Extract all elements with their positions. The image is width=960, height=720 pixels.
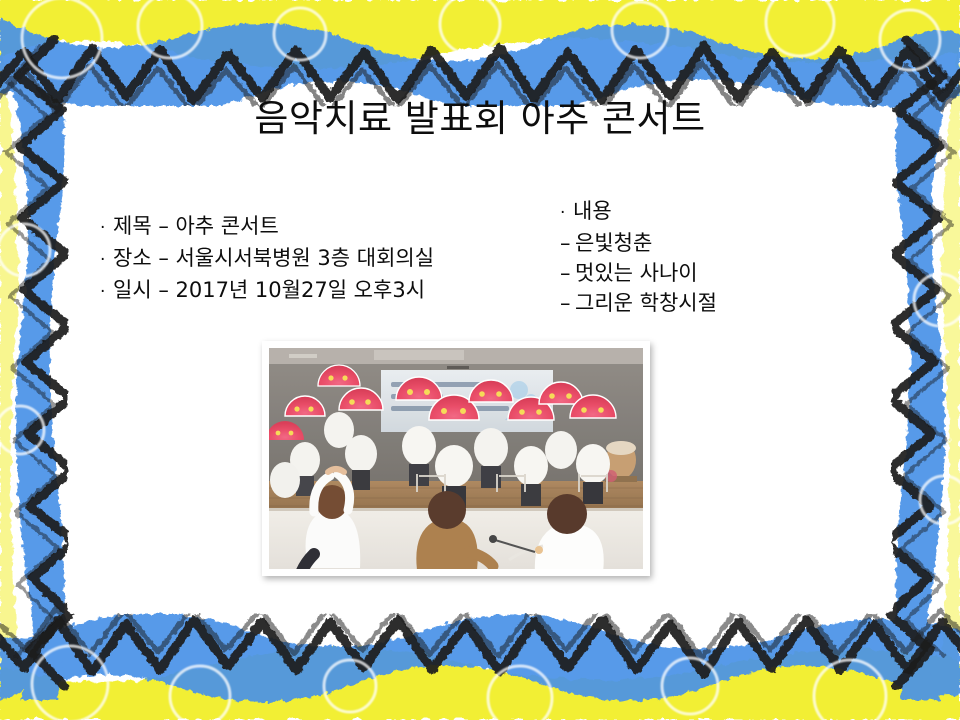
details-list-left: ·제목 – 아추 콘서트 ·장소 – 서울시서북병원 3층 대회의실 ·일시 –… bbox=[100, 211, 540, 307]
page-title: 음악치료 발표회 아추 콘서트 bbox=[0, 96, 960, 142]
bullet-marker: – bbox=[560, 228, 575, 258]
bullet-marker: · bbox=[100, 213, 113, 243]
list-item: ·일시 – 2017년 10월27일 오후3시 bbox=[100, 275, 540, 307]
bullet-marker: – bbox=[560, 258, 575, 288]
list-item-text: 일시 – 2017년 10월27일 오후3시 bbox=[113, 278, 425, 302]
presentation-slide: 음악치료 발표회 아추 콘서트 ·제목 – 아추 콘서트 ·장소 – 서울시서북… bbox=[0, 0, 960, 720]
list-item: –멋있는 사나이 bbox=[560, 258, 890, 288]
slide-content: 음악치료 발표회 아추 콘서트 ·제목 – 아추 콘서트 ·장소 – 서울시서북… bbox=[0, 0, 960, 720]
list-item-text: 제목 – 아추 콘서트 bbox=[113, 214, 279, 238]
list-item-text: 장소 – 서울시서북병원 3층 대회의실 bbox=[113, 246, 434, 270]
bullet-marker: · bbox=[100, 245, 113, 275]
list-item: –그리운 학창시절 bbox=[560, 288, 890, 318]
list-item: ·내용 bbox=[560, 196, 890, 228]
list-item-text: 멋있는 사나이 bbox=[575, 261, 698, 285]
list-item: ·장소 – 서울시서북병원 3층 대회의실 bbox=[100, 243, 540, 275]
program-list-right: ·내용 –은빛청춘 –멋있는 사나이 –그리운 학창시절 bbox=[560, 196, 890, 318]
list-item: ·제목 – 아추 콘서트 bbox=[100, 211, 540, 243]
list-item-text: 은빛청춘 bbox=[575, 231, 652, 255]
list-item-text: 그리운 학창시절 bbox=[575, 291, 717, 315]
bullet-marker: · bbox=[560, 198, 573, 228]
bullet-marker: – bbox=[560, 288, 575, 318]
list-item: –은빛청춘 bbox=[560, 228, 890, 258]
list-item-text: 내용 bbox=[573, 199, 612, 223]
bullet-marker: · bbox=[100, 277, 113, 307]
concert-photo bbox=[269, 348, 643, 569]
concert-photo-frame bbox=[262, 341, 650, 576]
